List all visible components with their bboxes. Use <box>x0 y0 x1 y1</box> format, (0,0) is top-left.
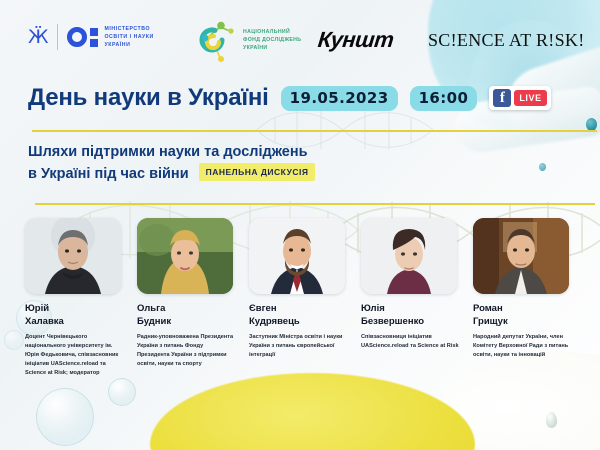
speaker-last-name: Будник <box>137 316 171 327</box>
nrfu-line-1: НАЦІОНАЛЬНИЙ <box>243 29 290 35</box>
nrfu-line-2: ФОНД ДОСЛІДЖЕНЬ <box>243 37 301 43</box>
speaker-card: Юлія Безвершенко Співзасновниця ініціати… <box>361 218 470 378</box>
facebook-icon: f <box>493 89 511 107</box>
speaker-photo-yuliia-bezvershenko <box>361 218 457 294</box>
bubble-shape <box>108 378 136 406</box>
speaker-last-name: Халавка <box>25 316 64 327</box>
ministry-circle-icon <box>67 27 87 47</box>
speaker-first-name: Юлія <box>361 303 385 314</box>
panel-discussion-tag: ПАНЕЛЬНА ДИСКУСІЯ <box>199 163 316 181</box>
bubble-shape <box>36 388 94 446</box>
avatar <box>361 218 457 294</box>
speaker-name: Євген Кудрявець <box>249 303 358 329</box>
yellow-ellipse-shape <box>150 373 475 450</box>
subtitle-line-1: Шляхи підтримки науки та досліджень <box>28 144 308 160</box>
ministry-emblem-icon <box>67 27 98 47</box>
partner-logos-bar: Ӝ МІНІСТЕРСТВО ОСВІТИ І НАУКИ УКРАЇНИ <box>0 0 600 72</box>
speaker-name: Ольга Будник <box>137 303 246 329</box>
speaker-photo-roman-hryshchuk <box>473 218 569 294</box>
bubble-shape <box>4 330 24 350</box>
speaker-last-name: Кудрявець <box>249 316 300 327</box>
speaker-description: Народний депутат України, член Комітету … <box>473 333 573 360</box>
speakers-list: Юрій Халавка Доцент Чернівецького націон… <box>25 218 585 378</box>
avatar <box>137 218 233 294</box>
logo-science-at-risk: SC!ENCE AT R!SK! <box>428 30 585 51</box>
speaker-last-name: Грищук <box>473 316 508 327</box>
logo-national-research-foundation: НАЦІОНАЛЬНИЙ ФОНД ДОСЛІДЖЕНЬ УКРАЇНИ <box>198 18 301 62</box>
speaker-last-name: Безвершенко <box>361 316 424 327</box>
logo-divider <box>57 24 58 50</box>
logo-ministry-of-education: Ӝ МІНІСТЕРСТВО ОСВІТИ І НАУКИ УКРАЇНИ <box>28 24 154 50</box>
event-time-badge: 16:00 <box>410 86 478 111</box>
speaker-description: Радник-уповноважена Президента України з… <box>137 333 237 369</box>
ministry-squares-icon <box>90 28 98 47</box>
speaker-name: Роман Грищук <box>473 303 582 329</box>
speaker-first-name: Євген <box>249 303 277 314</box>
speaker-card: Роман Грищук Народний депутат України, ч… <box>473 218 582 378</box>
speaker-description: Заступник Міністра освіти і науки Україн… <box>249 333 349 360</box>
live-label: LIVE <box>514 90 546 106</box>
event-poster: Ӝ МІНІСТЕРСТВО ОСВІТИ І НАУКИ УКРАЇНИ <box>0 0 600 450</box>
speaker-description: Співзасновниця ініціатив UAScience.reloa… <box>361 333 461 351</box>
nrfu-molecule-icon <box>198 18 238 62</box>
speaker-name: Юлія Безвершенко <box>361 303 470 329</box>
facebook-live-badge[interactable]: f LIVE <box>489 86 550 110</box>
speaker-name: Юрій Халавка <box>25 303 134 329</box>
speaker-first-name: Роман <box>473 303 503 314</box>
nrfu-line-3: УКРАЇНИ <box>243 45 268 51</box>
subtitle-line-2: в Україні під час війни <box>28 166 189 182</box>
speaker-card: Ольга Будник Радник-уповноважена Президе… <box>137 218 246 378</box>
speaker-first-name: Юрій <box>25 303 49 314</box>
speaker-photo-yevhen-kudriavets <box>249 218 345 294</box>
speaker-description: Доцент Чернівецького національного уніве… <box>25 333 125 378</box>
event-subtitle: Шляхи підтримки науки та досліджень в Ук… <box>28 142 428 185</box>
decorative-yellow-line-bottom <box>35 203 595 205</box>
avatar <box>25 218 121 294</box>
ministry-logo-text: МІНІСТЕРСТВО ОСВІТИ І НАУКИ УКРАЇНИ <box>104 25 153 49</box>
ministry-line-1: МІНІСТЕРСТВО <box>104 26 150 32</box>
water-drop-shape <box>546 412 557 428</box>
ministry-line-2: ОСВІТИ І НАУКИ <box>104 34 153 40</box>
avatar <box>249 218 345 294</box>
teal-dot-accent-small <box>539 163 546 171</box>
speaker-card: Євген Кудрявець Заступник Міністра освіт… <box>249 218 358 378</box>
speaker-photo-yurii-khalavka <box>25 218 121 294</box>
event-date-badge: 19.05.2023 <box>281 86 398 111</box>
speaker-first-name: Ольга <box>137 303 165 314</box>
teal-dot-accent <box>586 118 597 131</box>
page-title: День науки в Україні <box>28 84 269 112</box>
speaker-card: Юрій Халавка Доцент Чернівецького націон… <box>25 218 134 378</box>
logo-kunsht: Куншт <box>317 27 395 53</box>
nrfu-logo-text: НАЦІОНАЛЬНИЙ ФОНД ДОСЛІДЖЕНЬ УКРАЇНИ <box>243 28 301 53</box>
decorative-yellow-line-top <box>32 130 597 132</box>
avatar <box>473 218 569 294</box>
ministry-line-3: УКРАЇНИ <box>104 42 130 48</box>
title-row: День науки в Україні 19.05.2023 16:00 f … <box>28 84 551 112</box>
ukraine-trident-icon: Ӝ <box>28 28 48 47</box>
speaker-photo-olha-budnyk <box>137 218 233 294</box>
